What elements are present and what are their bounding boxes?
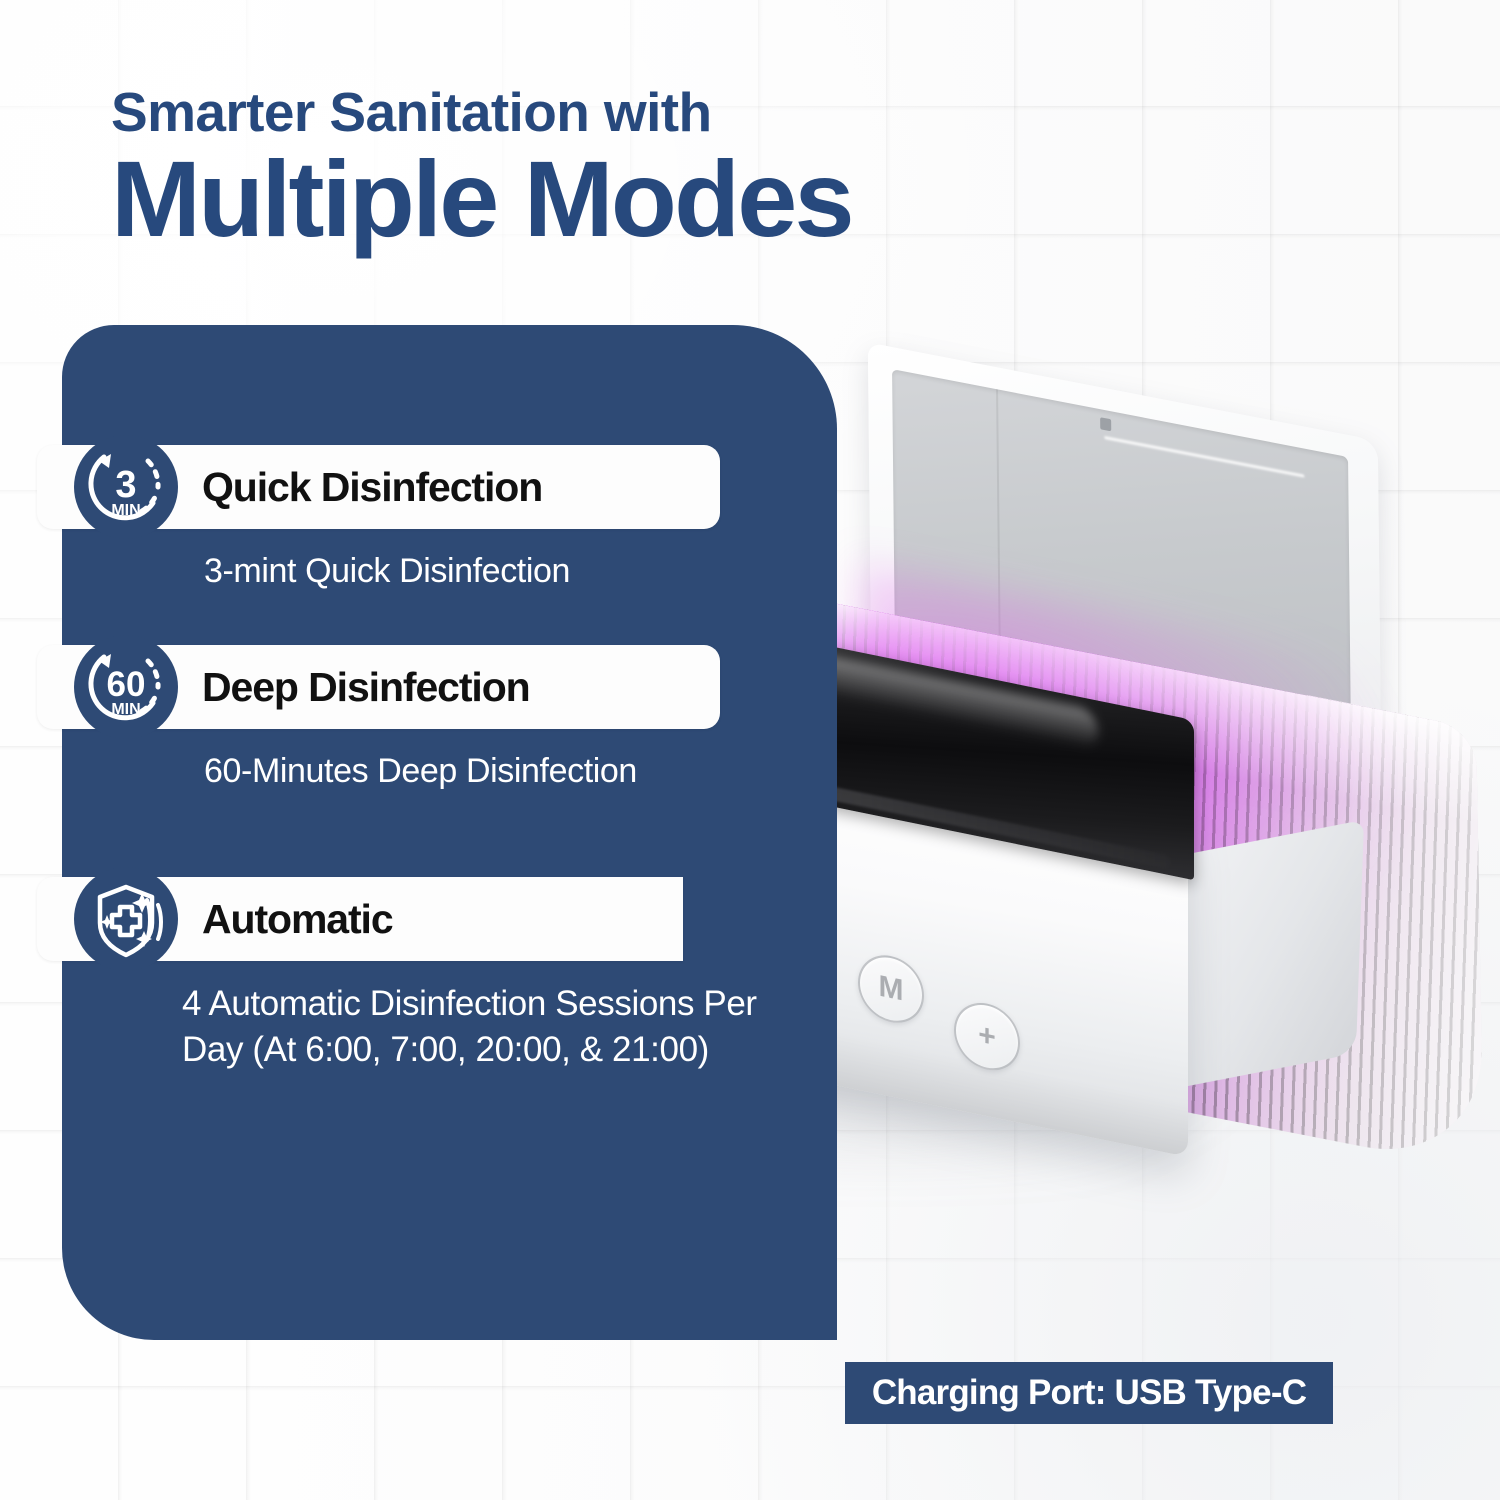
timer-3-min-icon: 3 MIN [74,435,178,539]
shield-medical-cross-icon [74,867,178,971]
mode-button[interactable]: M [858,949,924,1028]
infographic-canvas: Smarter Sanitation with Multiple Modes [0,0,1500,1500]
svg-text:MIN: MIN [111,502,140,519]
charging-port-badge: Charging Port: USB Type-C [845,1362,1333,1424]
plus-icon: + [978,1020,996,1054]
page-title: Smarter Sanitation with Multiple Modes [111,84,1431,255]
feature-title: Deep Disinfection [202,664,530,711]
feature-description: 3-mint Quick Disinfection [204,549,764,593]
timer-60-min-icon: 60 MIN [74,635,178,739]
headline-line-2: Multiple Modes [111,142,1431,255]
feature-description: 4 Automatic Disinfection Sessions Per Da… [182,981,782,1073]
svg-text:60: 60 [107,665,146,704]
plus-button[interactable]: + [954,997,1020,1076]
svg-text:3: 3 [115,464,136,506]
feature-title: Quick Disinfection [202,464,542,511]
headline-line-1: Smarter Sanitation with [111,84,1431,140]
feature-title: Automatic [202,896,393,943]
mode-icon: M [879,972,904,1007]
features-panel: Quick Disinfection 3 MIN 3-mint Qui [62,325,837,1340]
device-lid-notch [1100,417,1111,431]
feature-description: 60-Minutes Deep Disinfection [204,749,764,793]
svg-text:MIN: MIN [111,701,140,718]
